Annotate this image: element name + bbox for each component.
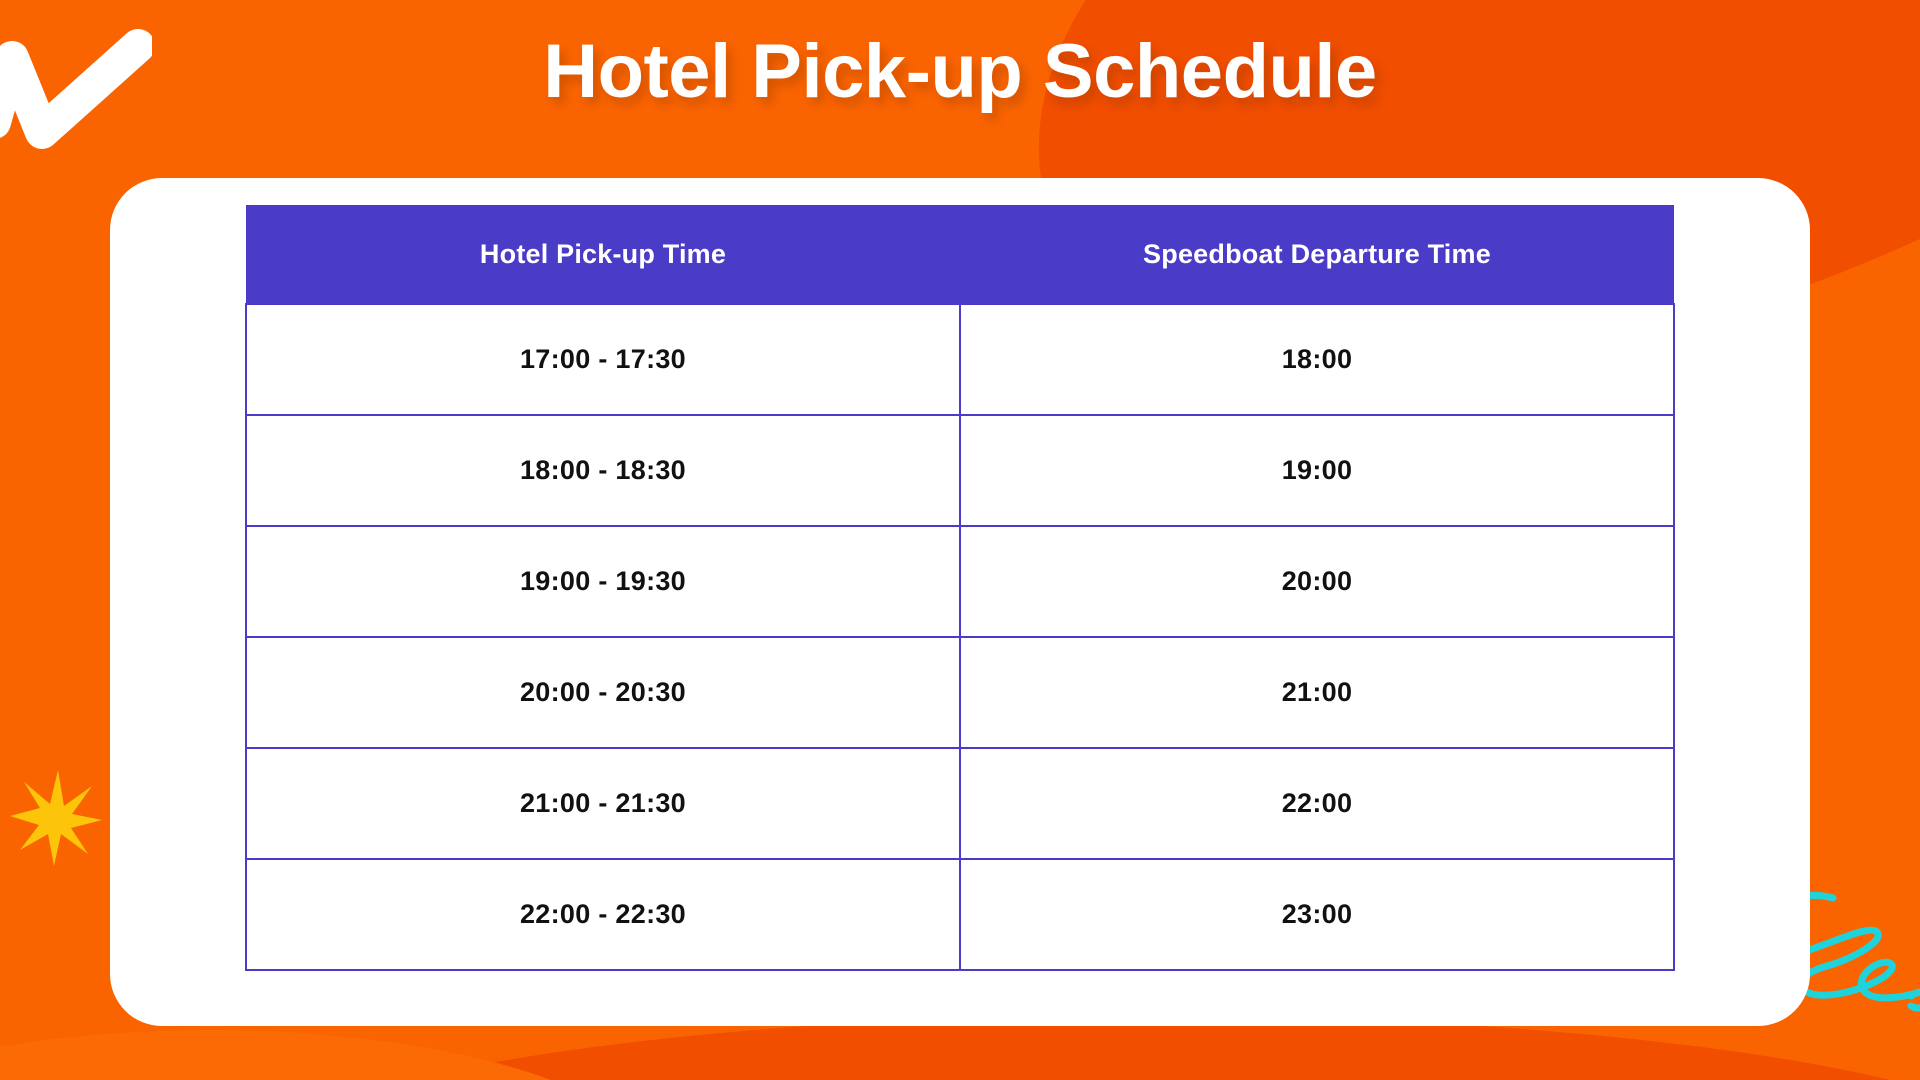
cell-pickup-time: 19:00 - 19:30 [246,526,960,637]
table-header-row: Hotel Pick-up Time Speedboat Departure T… [246,205,1674,304]
cell-pickup-time: 17:00 - 17:30 [246,304,960,415]
schedule-card: Hotel Pick-up Time Speedboat Departure T… [110,178,1810,1026]
schedule-table: Hotel Pick-up Time Speedboat Departure T… [245,205,1675,971]
page-title: Hotel Pick-up Schedule [0,34,1920,110]
cell-departure-time: 22:00 [960,748,1674,859]
cell-departure-time: 21:00 [960,637,1674,748]
cell-pickup-time: 20:00 - 20:30 [246,637,960,748]
table-body: 17:00 - 17:30 18:00 18:00 - 18:30 19:00 … [246,304,1674,970]
cell-departure-time: 23:00 [960,859,1674,970]
cell-departure-time: 18:00 [960,304,1674,415]
cell-pickup-time: 22:00 - 22:30 [246,859,960,970]
slide-canvas: Hotel Pick-up Schedule Hotel Pick-up Tim… [0,0,1920,1080]
cell-departure-time: 20:00 [960,526,1674,637]
column-header-hotel-pickup-time: Hotel Pick-up Time [246,205,960,304]
table-header: Hotel Pick-up Time Speedboat Departure T… [246,205,1674,304]
orange-blob-bottom-left-icon [0,1030,660,1080]
table-row: 20:00 - 20:30 21:00 [246,637,1674,748]
table-row: 18:00 - 18:30 19:00 [246,415,1674,526]
cell-pickup-time: 21:00 - 21:30 [246,748,960,859]
table-row: 22:00 - 22:30 23:00 [246,859,1674,970]
table-row: 17:00 - 17:30 18:00 [246,304,1674,415]
yellow-sparkle-star-icon [8,768,104,868]
cell-departure-time: 19:00 [960,415,1674,526]
cell-pickup-time: 18:00 - 18:30 [246,415,960,526]
table-row: 19:00 - 19:30 20:00 [246,526,1674,637]
table-row: 21:00 - 21:30 22:00 [246,748,1674,859]
column-header-speedboat-departure-time: Speedboat Departure Time [960,205,1674,304]
